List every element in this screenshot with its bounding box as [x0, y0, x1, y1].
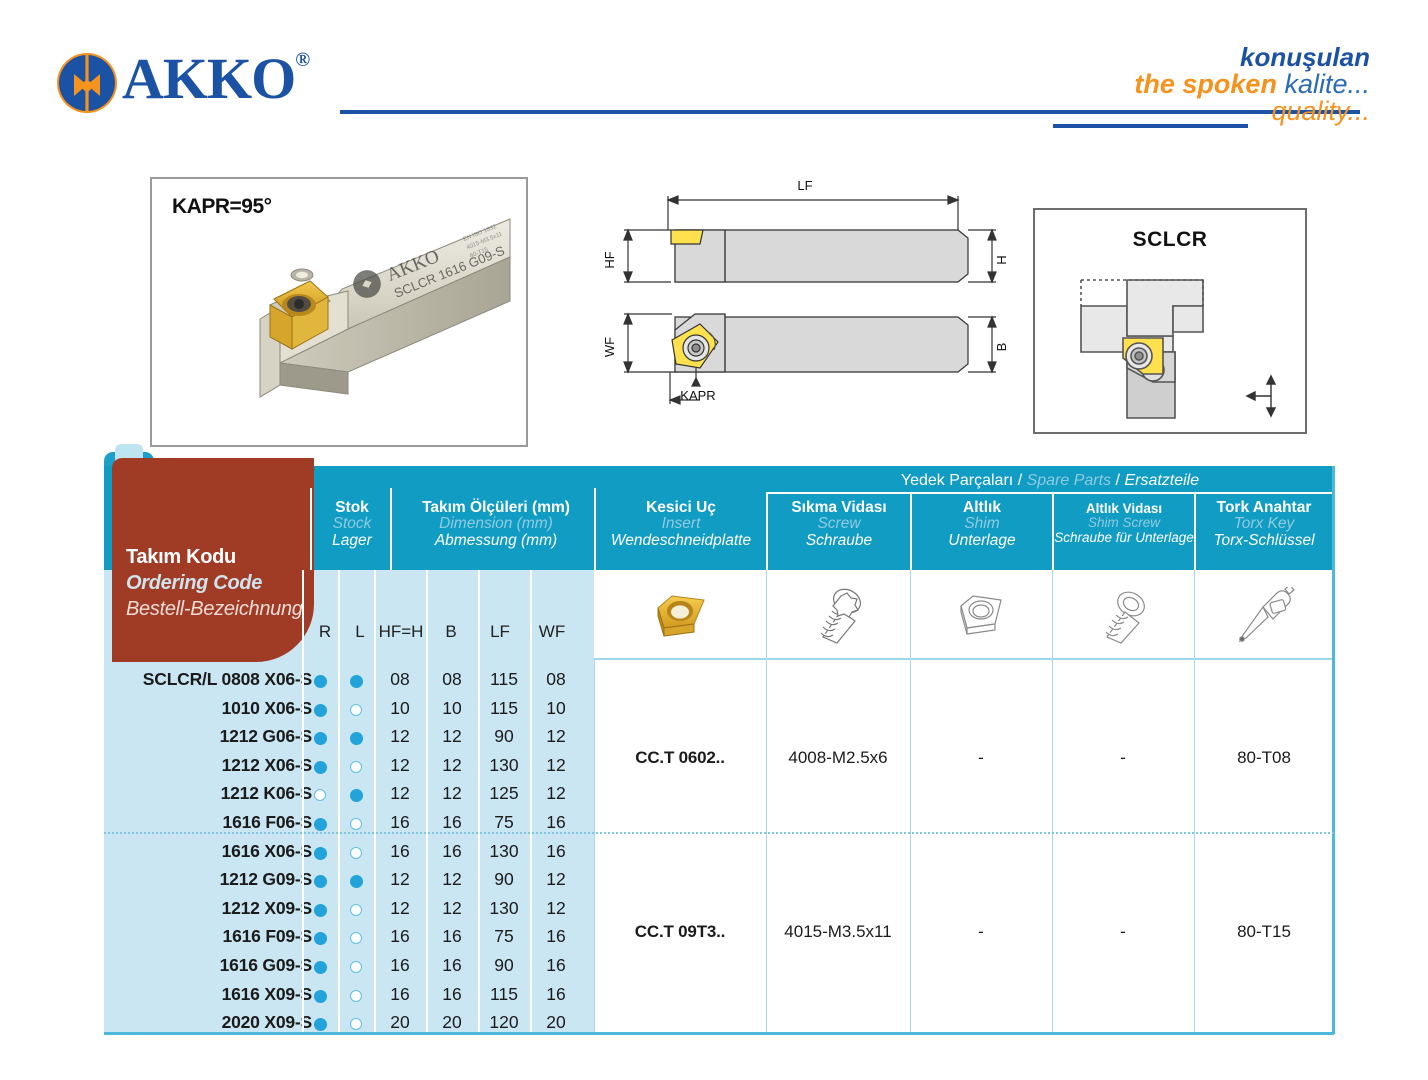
ordering-code-en: Ordering Code — [126, 572, 262, 595]
cell-wf: 12 — [530, 755, 582, 776]
cell-lf: 115 — [478, 698, 530, 719]
cell-shim-screw: - — [1052, 748, 1194, 768]
spare-parts-en: Spare Parts — [1027, 472, 1111, 489]
cell-b: 16 — [426, 812, 478, 833]
ordering-code-tr: Takım Kodu — [126, 546, 236, 569]
cell-wf: 12 — [530, 869, 582, 890]
header-insert: Kesici Uç Insert Wendeschneidplatte — [596, 500, 766, 549]
cell-wf: 16 — [530, 812, 582, 833]
tagline-line3: quality... — [1134, 98, 1370, 126]
dim-label-lf: LF — [797, 178, 812, 193]
cell-wf: 16 — [530, 926, 582, 947]
stock-dot-l — [350, 1018, 362, 1030]
table-row[interactable]: 1616 F09-S16167516 — [104, 923, 594, 952]
cell-hf: 12 — [374, 783, 426, 804]
table-body: SCLCR/L 0808 X06-S0808115081010 X06-S101… — [104, 660, 1334, 1032]
table-row[interactable]: 1010 X06-S101011510 — [104, 695, 594, 724]
cell-wf: 16 — [530, 955, 582, 976]
header-stock: Stok Stock Lager — [310, 500, 394, 549]
stock-dot-l — [350, 761, 362, 773]
cell-screw: 4008-M2.5x6 — [766, 748, 910, 768]
stock-dot-r — [314, 818, 327, 831]
table-top-rule — [594, 658, 1334, 660]
cell-hf: 16 — [374, 955, 426, 976]
stock-dot-l — [350, 732, 363, 745]
cell-b: 20 — [426, 1012, 478, 1033]
stock-dot-r — [314, 847, 327, 860]
stock-dot-r — [314, 732, 327, 745]
cell-b: 16 — [426, 926, 478, 947]
spare-parts-de: Ersatzteile — [1124, 472, 1199, 489]
stock-dot-l — [350, 818, 362, 830]
tagline-kalite: kalite... — [1284, 69, 1370, 99]
cell-lf: 130 — [478, 755, 530, 776]
cell-lf: 90 — [478, 726, 530, 747]
catalog-page: AKKO® konuşulan the spoken kalite... qua… — [0, 0, 1428, 1080]
table-row[interactable]: 1616 G09-S16169016 — [104, 952, 594, 981]
stock-dot-l — [350, 704, 362, 716]
stock-dot-r — [314, 704, 327, 717]
stock-dot-r — [314, 1018, 327, 1031]
row-ordering-code: 1616 X09-S — [222, 984, 312, 1005]
row-ordering-code: 1212 X09-S — [222, 898, 312, 919]
row-ordering-code: 1212 G09-S — [220, 869, 312, 890]
cell-torx-key: 80-T15 — [1194, 922, 1334, 942]
cell-b: 08 — [426, 669, 478, 690]
stock-dot-r — [314, 961, 327, 974]
cell-wf: 08 — [530, 669, 582, 690]
cell-lf: 125 — [478, 783, 530, 804]
subheader-hf: HF=H — [370, 622, 432, 642]
dimension-drawing-panel: LF HF H WF B KAPR — [600, 172, 1020, 417]
table-row[interactable]: 1616 X06-S161613016 — [104, 838, 594, 867]
cell-hf: 16 — [374, 812, 426, 833]
subheader-r: R — [307, 622, 343, 642]
table-row[interactable]: 1212 X09-S121213012 — [104, 895, 594, 924]
dim-label-wf: WF — [602, 337, 617, 357]
stock-dot-r — [314, 932, 327, 945]
stock-dot-l — [350, 789, 363, 802]
registered-icon: ® — [295, 49, 309, 71]
brand-name: AKKO® — [122, 48, 309, 110]
cell-lf: 115 — [478, 984, 530, 1005]
row-ordering-code: 1212 X06-S — [222, 755, 312, 776]
header-screw: Sıkma Vidası Screw Schraube — [768, 500, 910, 549]
table-row[interactable]: SCLCR/L 0808 X06-S080811508 — [104, 666, 594, 695]
cell-b: 12 — [426, 755, 478, 776]
row-ordering-code: 1616 X06-S — [222, 841, 312, 862]
cell-torx-key: 80-T08 — [1194, 748, 1334, 768]
header-shim-screw: Altlık Vidası Shim Screw Schraube für Un… — [1054, 502, 1194, 545]
row-ordering-code: 1616 F06-S — [223, 812, 312, 833]
dim-label-hf: HF — [602, 251, 617, 268]
kapr-label: KAPR=95° — [172, 195, 272, 219]
cell-hf: 16 — [374, 984, 426, 1005]
stock-dot-r — [314, 990, 327, 1003]
cell-lf: 130 — [478, 898, 530, 919]
screw-icon — [768, 576, 910, 656]
row-ordering-code: 1212 G06-S — [220, 726, 312, 747]
table-body-right — [594, 660, 1334, 1032]
dim-label-b: B — [994, 343, 1009, 352]
specification-table: Takım Kodu Ordering Code Bestell-Bezeich… — [104, 452, 1334, 1034]
stock-dot-l — [350, 961, 362, 973]
sep1: / — [1018, 472, 1022, 489]
cell-b: 12 — [426, 726, 478, 747]
table-row[interactable]: 1212 G09-S12129012 — [104, 866, 594, 895]
shim-icon — [912, 576, 1052, 656]
stock-dot-l — [350, 675, 363, 688]
brand-header: AKKO® — [56, 48, 309, 114]
cell-wf: 16 — [530, 984, 582, 1005]
tagline-spoken: the spoken — [1134, 69, 1277, 99]
stock-dot-r — [314, 675, 327, 688]
cell-hf: 10 — [374, 698, 426, 719]
cell-b: 12 — [426, 869, 478, 890]
cell-b: 12 — [426, 898, 478, 919]
subheader-wf: WF — [530, 622, 574, 642]
stock-dot-r — [314, 761, 327, 774]
insert-icon — [596, 576, 766, 656]
cell-wf: 16 — [530, 841, 582, 862]
feed-direction-arrows — [1247, 376, 1275, 416]
stock-dot-l — [350, 875, 363, 888]
tagline: konuşulan the spoken kalite... quality..… — [1134, 44, 1370, 126]
spare-parts-title: Yedek Parçaları / Spare Parts / Ersatzte… — [766, 472, 1334, 490]
cell-hf: 08 — [374, 669, 426, 690]
cell-b: 16 — [426, 955, 478, 976]
table-row[interactable]: 1212 G06-S12129012 — [104, 723, 594, 752]
cell-lf: 115 — [478, 669, 530, 690]
row-ordering-code: 1212 K06-S — [221, 783, 312, 804]
cell-lf: 130 — [478, 841, 530, 862]
product-photo-panel: KAPR=95° — [150, 177, 528, 447]
dim-label-kapr: KAPR — [680, 388, 715, 403]
subheader-lf: LF — [478, 622, 522, 642]
cell-lf: 90 — [478, 869, 530, 890]
cell-lf: 75 — [478, 926, 530, 947]
row-ordering-code: 1616 F09-S — [223, 926, 312, 947]
tagline-rule — [1053, 124, 1248, 128]
cell-insert: CC.T 09T3.. — [594, 922, 766, 942]
cell-shim-screw: - — [1052, 922, 1194, 942]
tagline-line2: the spoken kalite... — [1134, 71, 1370, 99]
cell-b: 10 — [426, 698, 478, 719]
row-ordering-code: 1616 G09-S — [220, 955, 312, 976]
row-ordering-code: 1010 X06-S — [222, 698, 312, 719]
cell-hf: 16 — [374, 841, 426, 862]
spare-parts-tr: Yedek Parçaları — [901, 472, 1013, 489]
cell-lf: 120 — [478, 1012, 530, 1033]
dim-label-h: H — [994, 255, 1009, 264]
stock-dot-r — [314, 875, 327, 888]
application-title: SCLCR — [1035, 228, 1305, 252]
cell-hf: 20 — [374, 1012, 426, 1033]
tagline-line1: konuşulan — [1134, 44, 1370, 71]
ordering-code-block: Takım Kodu Ordering Code Bestell-Bezeich… — [112, 458, 314, 662]
stock-dot-r — [314, 789, 326, 801]
table-bottom-rule — [104, 1032, 1334, 1035]
header-torx-key: Tork Anahtar Torx Key Torx-Schlüssel — [1196, 500, 1332, 549]
cell-screw: 4015-M3.5x11 — [766, 922, 910, 942]
cell-b: 16 — [426, 984, 478, 1005]
stock-dot-l — [350, 990, 362, 1002]
cell-wf: 12 — [530, 726, 582, 747]
table-row[interactable]: 1212 X06-S121213012 — [104, 752, 594, 781]
cell-shim: - — [910, 748, 1052, 768]
row-ordering-code: 2020 X09-S — [222, 1012, 312, 1033]
stock-dot-l — [350, 932, 362, 944]
cell-wf: 12 — [530, 783, 582, 804]
ordering-code-de: Bestell-Bezeichnung — [126, 598, 303, 621]
table-row[interactable]: 1212 K06-S121212512 — [104, 780, 594, 809]
cell-insert: CC.T 0602.. — [594, 748, 766, 768]
cell-b: 16 — [426, 841, 478, 862]
cell-hf: 12 — [374, 869, 426, 890]
table-right-border — [1332, 466, 1335, 1034]
cell-hf: 12 — [374, 898, 426, 919]
table-row[interactable]: 1616 X09-S161611516 — [104, 981, 594, 1010]
row-ordering-code: SCLCR/L 0808 X06-S — [143, 669, 312, 690]
cell-hf: 12 — [374, 726, 426, 747]
sep2: / — [1116, 472, 1120, 489]
cell-hf: 12 — [374, 755, 426, 776]
cell-wf: 20 — [530, 1012, 582, 1033]
cell-hf: 16 — [374, 926, 426, 947]
stock-dot-r — [314, 904, 327, 917]
header-dimensions: Takım Ölçüleri (mm) Dimension (mm) Abmes… — [390, 500, 602, 549]
cell-lf: 75 — [478, 812, 530, 833]
torx-key-icon — [1196, 576, 1332, 656]
cell-b: 12 — [426, 783, 478, 804]
akko-logo-icon — [56, 52, 118, 114]
cell-wf: 10 — [530, 698, 582, 719]
stock-dot-l — [350, 847, 362, 859]
header-shim: Altlık Shim Unterlage — [912, 500, 1052, 549]
cell-lf: 90 — [478, 955, 530, 976]
subheader-b: B — [429, 622, 473, 642]
shim-screw-icon — [1054, 576, 1194, 656]
cell-shim: - — [910, 922, 1052, 942]
stock-dot-l — [350, 904, 362, 916]
cell-wf: 12 — [530, 898, 582, 919]
application-diagram-panel: SCLCR — [1033, 208, 1307, 434]
